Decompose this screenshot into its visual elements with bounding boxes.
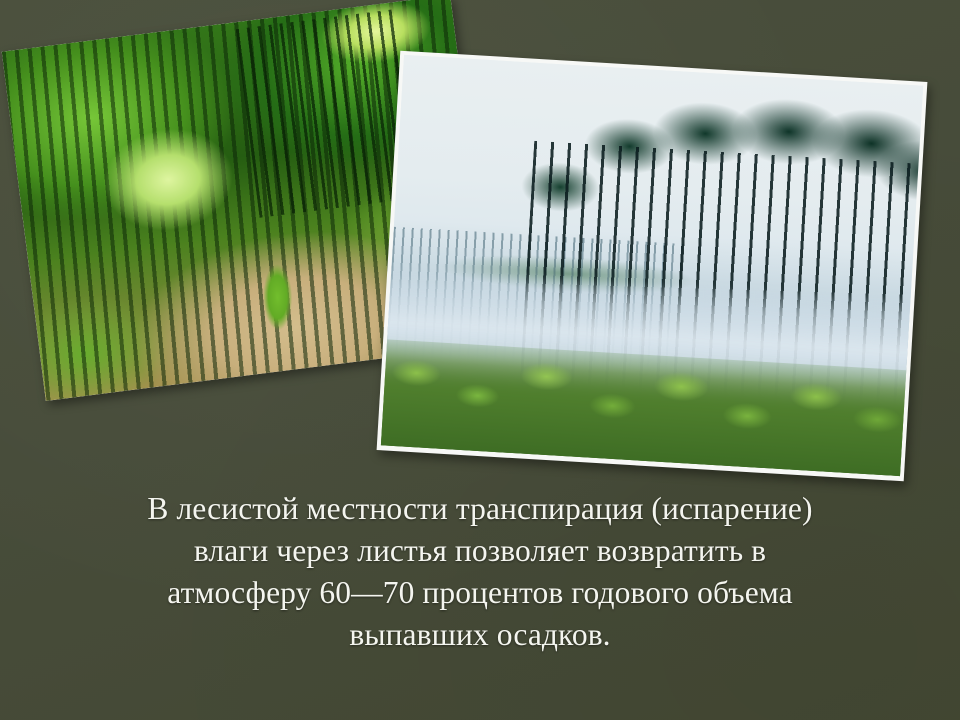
- slide-canvas: В лесистой местности транспирация (испар…: [0, 0, 960, 720]
- track-grass-strip: [260, 258, 296, 337]
- misty-pine-forest-photo-image: [381, 55, 923, 476]
- misty-pine-forest-photo[interactable]: [377, 51, 928, 482]
- slide-caption: В лесистой местности транспирация (испар…: [60, 488, 900, 656]
